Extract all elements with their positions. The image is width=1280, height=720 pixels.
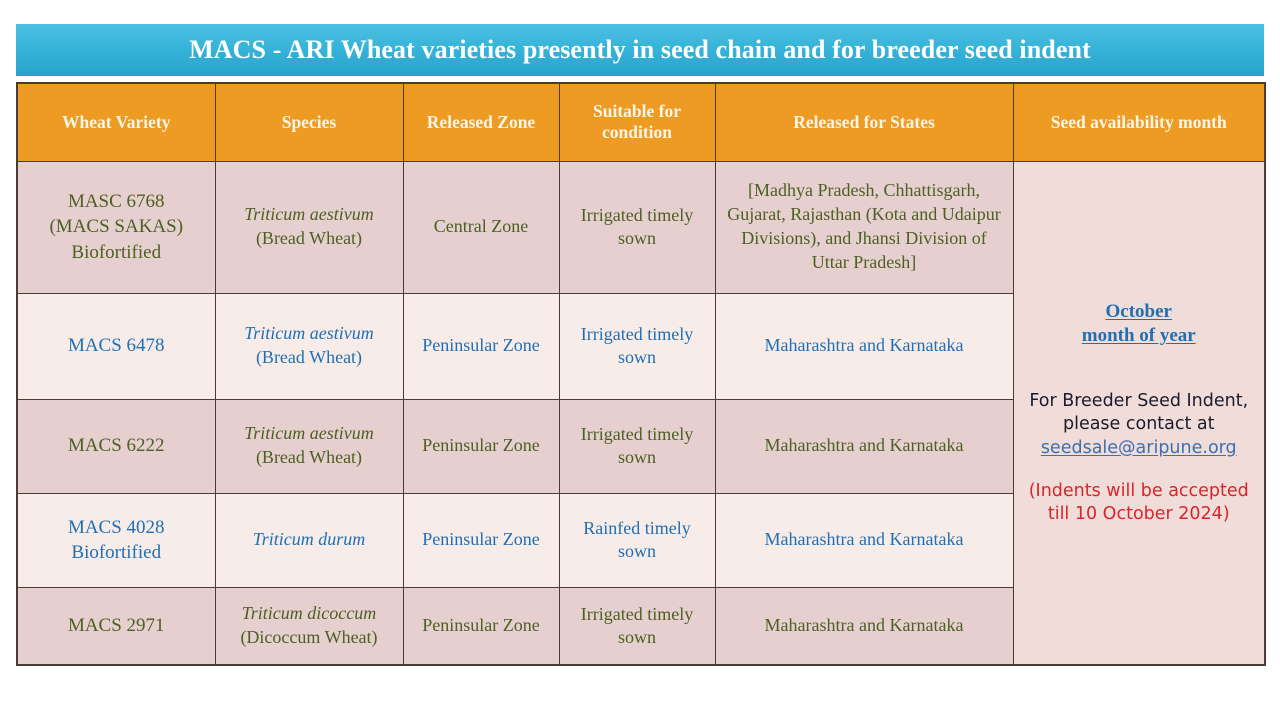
contact-line-2: please contact at	[1063, 414, 1215, 434]
breeder-seed-contact-block: For Breeder Seed Indent, please contact …	[1029, 390, 1248, 459]
wheat-varieties-table: Wheat Variety Species Released Zone Suit…	[16, 82, 1266, 666]
cell-released-for-states: Maharashtra and Karnataka	[715, 293, 1013, 399]
table-row: MASC 6768(MACS SAKAS)Biofortified Tritic…	[17, 161, 1265, 293]
seed-availability-content: Octobermonth of year For Breeder Seed In…	[1020, 166, 1259, 661]
cell-released-zone: Central Zone	[403, 161, 559, 293]
column-header-suitable-for-condition: Suitable for condition	[559, 83, 715, 161]
cell-released-for-states: Maharashtra and Karnataka	[715, 493, 1013, 587]
cell-suitable-condition: Rainfed timely sown	[559, 493, 715, 587]
species-common-name: (Dicoccum Wheat)	[222, 626, 397, 650]
cell-suitable-condition: Irrigated timely sown	[559, 399, 715, 493]
column-header-seed-availability-month: Seed availability month	[1013, 83, 1265, 161]
cell-species: Triticum aestivum (Bread Wheat)	[215, 399, 403, 493]
wheat-varieties-table-container: Wheat Variety Species Released Zone Suit…	[16, 82, 1264, 666]
cell-wheat-variety: MASC 6768(MACS SAKAS)Biofortified	[17, 161, 215, 293]
species-binomial: Triticum durum	[222, 528, 397, 552]
species-binomial: Triticum dicoccum	[222, 602, 397, 626]
cell-released-for-states: [Madhya Pradesh, Chhattisgarh, Gujarat, …	[715, 161, 1013, 293]
species-common-name: (Bread Wheat)	[222, 346, 397, 370]
cell-suitable-condition: Irrigated timely sown	[559, 293, 715, 399]
cell-species: Triticum durum	[215, 493, 403, 587]
cell-released-for-states: Maharashtra and Karnataka	[715, 587, 1013, 665]
species-binomial: Triticum aestivum	[222, 203, 397, 227]
page-title: MACS - ARI Wheat varieties presently in …	[189, 35, 1091, 65]
cell-wheat-variety: MACS 2971	[17, 587, 215, 665]
cell-released-zone: Peninsular Zone	[403, 587, 559, 665]
table-body: MASC 6768(MACS SAKAS)Biofortified Tritic…	[17, 161, 1265, 665]
cell-suitable-condition: Irrigated timely sown	[559, 587, 715, 665]
species-binomial: Triticum aestivum	[222, 322, 397, 346]
column-header-wheat-variety: Wheat Variety	[17, 83, 215, 161]
cell-released-zone: Peninsular Zone	[403, 293, 559, 399]
seed-availability-month-headline: Octobermonth of year	[1082, 300, 1196, 349]
cell-released-zone: Peninsular Zone	[403, 493, 559, 587]
table-header: Wheat Variety Species Released Zone Suit…	[17, 83, 1265, 161]
document-title-banner: MACS - ARI Wheat varieties presently in …	[16, 24, 1264, 76]
species-common-name: (Bread Wheat)	[222, 227, 397, 251]
column-header-released-zone: Released Zone	[403, 83, 559, 161]
cell-species: Triticum dicoccum (Dicoccum Wheat)	[215, 587, 403, 665]
cell-species: Triticum aestivum (Bread Wheat)	[215, 161, 403, 293]
cell-wheat-variety: MACS 6222	[17, 399, 215, 493]
cell-released-for-states: Maharashtra and Karnataka	[715, 399, 1013, 493]
column-header-released-for-states: Released for States	[715, 83, 1013, 161]
species-common-name: (Bread Wheat)	[222, 446, 397, 470]
contact-line-1: For Breeder Seed Indent,	[1029, 391, 1248, 411]
column-header-species: Species	[215, 83, 403, 161]
contact-email-link[interactable]: seedsale@aripune.org	[1029, 437, 1248, 460]
cell-wheat-variety: MACS 6478	[17, 293, 215, 399]
cell-seed-availability-month: Octobermonth of year For Breeder Seed In…	[1013, 161, 1265, 665]
indent-deadline-note: (Indents will be accepted till 10 Octobe…	[1020, 480, 1259, 526]
table-header-row: Wheat Variety Species Released Zone Suit…	[17, 83, 1265, 161]
cell-released-zone: Peninsular Zone	[403, 399, 559, 493]
cell-suitable-condition: Irrigated timely sown	[559, 161, 715, 293]
species-binomial: Triticum aestivum	[222, 422, 397, 446]
cell-wheat-variety: MACS 4028Biofortified	[17, 493, 215, 587]
document-page: MACS - ARI Wheat varieties presently in …	[0, 0, 1280, 720]
cell-species: Triticum aestivum (Bread Wheat)	[215, 293, 403, 399]
